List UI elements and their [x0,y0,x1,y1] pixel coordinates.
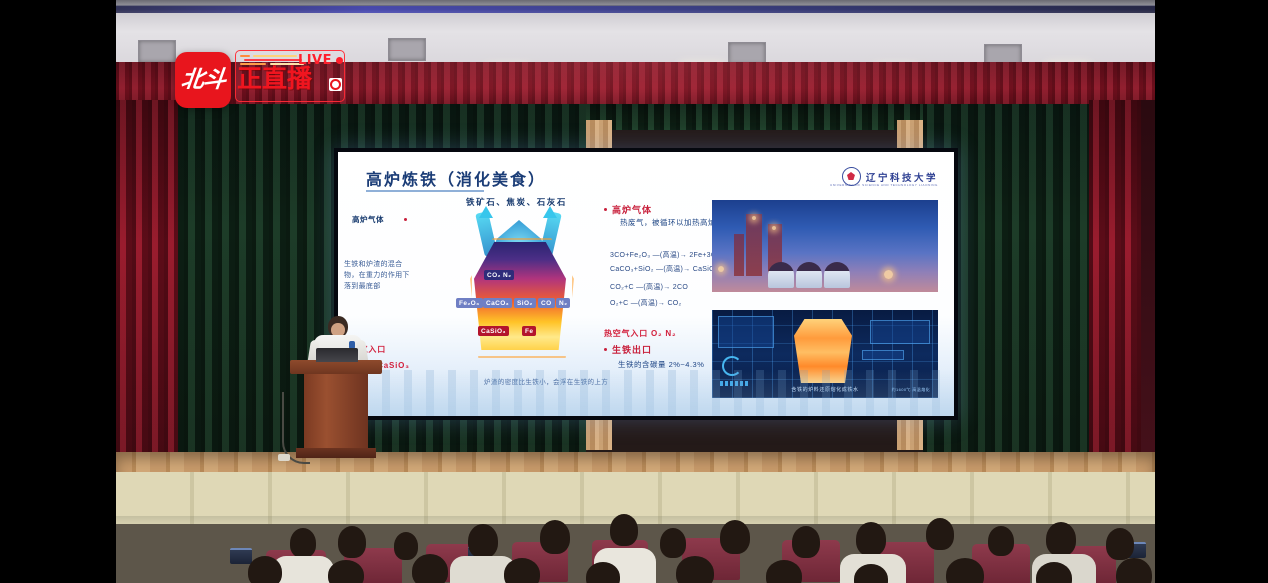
live-watermark: 北斗 LIVE 正直播 [175,52,347,108]
audience-head-front [328,560,364,583]
broadcast-label: 正直播 [237,67,312,92]
audience-head [1106,528,1134,560]
audience-head [988,526,1014,556]
audience-laptop [230,548,252,564]
live-badge-group: LIVE 正直播 [235,52,347,104]
presenter-laptop [316,348,358,362]
podium-top [290,360,382,374]
audience-head [468,524,498,558]
pig-iron-bullet-icon [604,348,607,351]
audience-head [792,526,820,558]
audience-area [116,472,1155,583]
pig-iron-carbon-note: 生铁的含碳量 2%~4.3% [618,359,704,370]
audience-head [290,528,316,558]
podium-body [304,374,368,448]
led-presentation-screen: 高炉炼铁（消化美食） 辽宁科技大学 UNIVERSITY OF SCIENCE … [334,148,958,420]
channel-logo: 北斗 [175,52,231,108]
slide-title: 高炉炼铁（消化美食） [366,166,546,190]
zone-tag: SiO₂ [514,298,536,308]
title-underline [366,190,484,192]
hot-air-inlet-label-right: 热空气入口 O₂ N₂ [604,328,676,339]
zone-tag: Fe [522,326,536,336]
audience-head [720,520,750,554]
blast-furnace-plant-night-photo [712,200,938,292]
equation-row: CO₂+C —(高温)→ 2CO [610,282,688,292]
letterbox-right [1155,0,1268,583]
audience-head [1046,522,1076,556]
audience-head [660,528,686,558]
plant-tower [734,234,744,276]
zone-tag: CO [538,298,555,308]
zone-tag: CaCO₃ [483,298,512,308]
wooden-podium [290,360,382,458]
audience-head [926,518,954,550]
plant-light [752,216,756,220]
camera-badge-icon [329,78,342,91]
slide-skyline-decor [338,370,954,416]
furnace-gas-heading: 高炉气体 [612,203,652,216]
charge-arrow-left-icon [479,206,493,218]
red-drape-right [1089,100,1145,462]
equation-row: O₂+C —(高温)→ CO₂ [610,298,682,308]
zone-tag: CO₂ N₂ [484,270,514,280]
data-panel [870,320,930,344]
plant-light [772,226,776,230]
audience-head [540,520,570,554]
furnace-left-note: 生铁和炉渣的混合物，在重力的作用下落到最底部 [344,260,414,293]
charge-arrow-right-icon [543,206,557,218]
left-gas-label: 高炉气体 [352,214,384,225]
pig-iron-outlet-heading: 生铁出口 [612,343,652,356]
plant-silo [796,262,822,288]
university-name: 辽宁科技大学 [866,170,938,184]
zone-tag: CaSiO₃ [478,326,509,336]
audience-head-front [676,556,714,583]
data-panel [862,350,904,360]
plant-tower [746,214,762,276]
audience-head [338,526,366,558]
plant-light [718,266,724,272]
slide-canvas: 高炉炼铁（消化美食） 辽宁科技大学 UNIVERSITY OF SCIENCE … [338,152,954,416]
ceiling-light-strip [116,6,1155,13]
floor-connector-box [278,454,290,461]
university-subtitle: UNIVERSITY OF SCIENCE AND TECHNOLOGY LIA… [830,183,938,187]
zone-tag: N₂ [556,298,570,308]
left-gas-bullet-icon [404,218,407,221]
livestream-frame: 高炉炼铁（消化美食） 辽宁科技大学 UNIVERSITY OF SCIENCE … [0,0,1268,583]
ceiling-vent [388,38,426,61]
zone-tag: Fe₂O₃ [456,298,483,308]
live-dot-icon [336,57,343,64]
audience-head [610,514,638,546]
letterbox-left [0,0,116,583]
audience-head-front [412,554,448,583]
red-drape-left [116,100,178,462]
data-panel [718,316,774,348]
plant-silo [824,262,850,288]
audience-head [856,522,886,556]
channel-logo-text: 北斗 [180,69,226,92]
furnace-gas-subtext: 热废气，被循环以加热高炉 [620,217,716,228]
podium-base [296,448,376,458]
stage-edge-shadow-right [1141,100,1155,462]
ceiling-vent [138,40,176,63]
plant-light [884,270,893,279]
audience-head-front [504,558,540,583]
audience-head-front [248,556,282,583]
equation-row: 3CO+Fe₂O₃ —(高温)→ 2Fe+3CO₂ [610,250,725,260]
gas-bullet-icon [604,208,607,211]
plant-silo [768,262,794,288]
audience-head [394,532,418,560]
